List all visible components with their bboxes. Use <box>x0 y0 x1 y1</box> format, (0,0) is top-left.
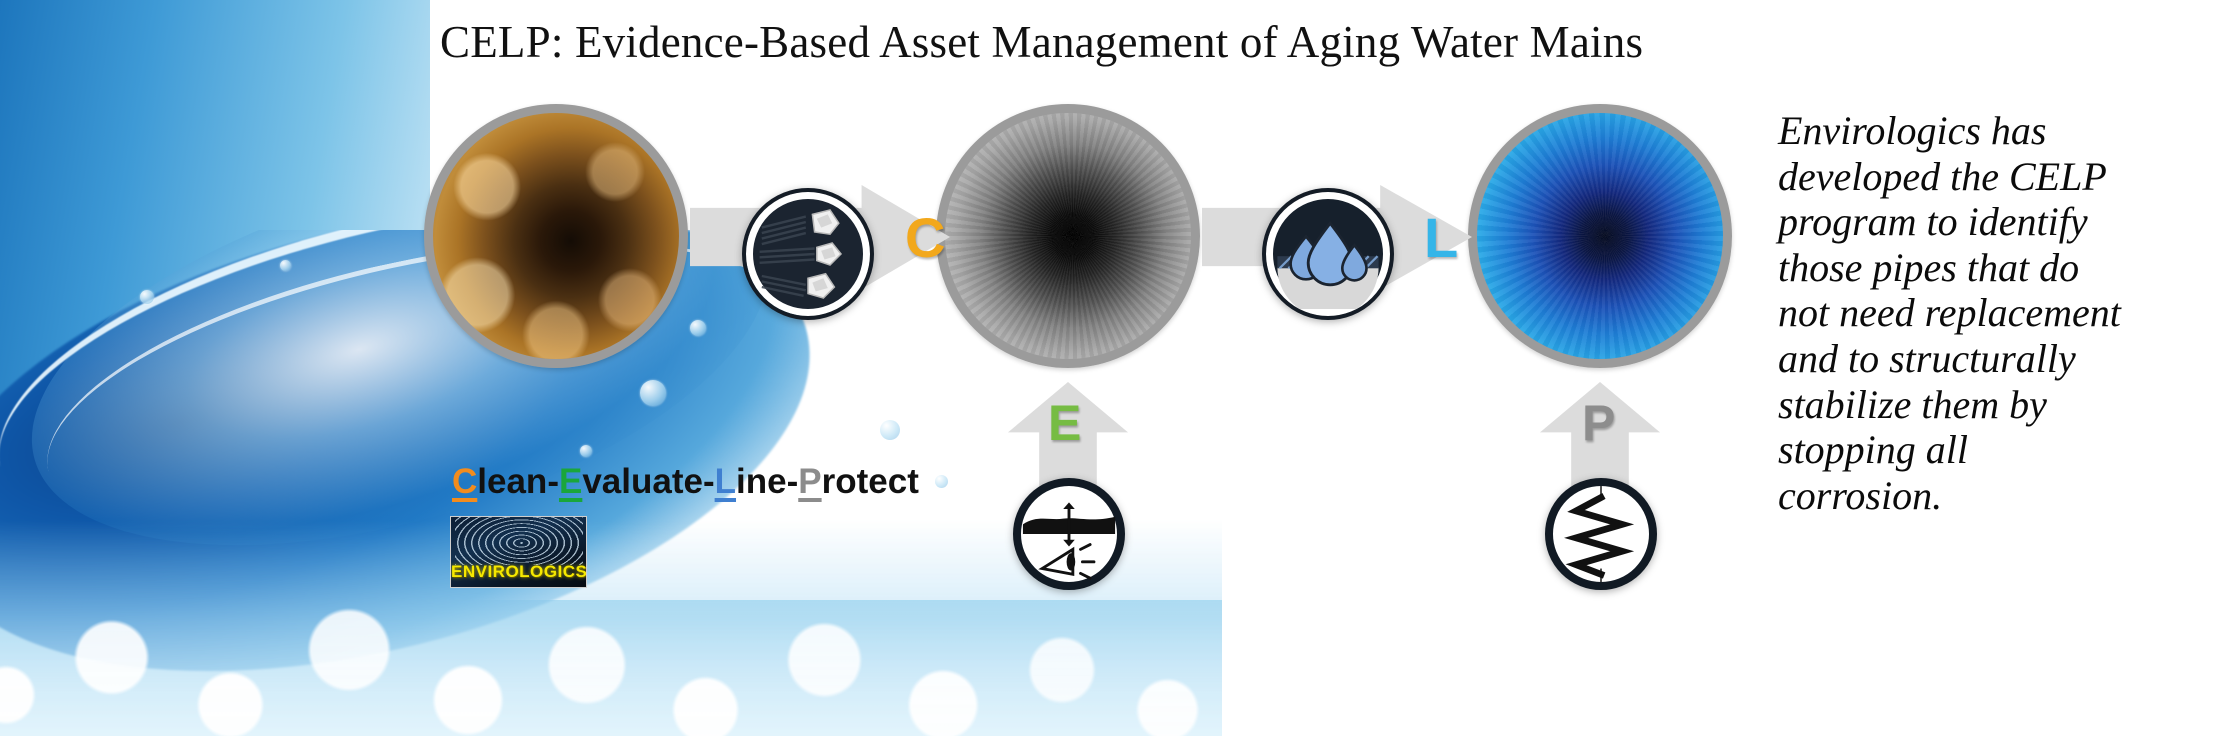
resistor-zigzag-icon <box>1545 478 1657 590</box>
logo-ripple-graphic <box>455 516 583 565</box>
slide-canvas: CELP: Evidence-Based Asset Management of… <box>0 0 2218 736</box>
pipe-state-lined <box>1468 104 1732 368</box>
water-droplet <box>580 445 592 457</box>
wordmark-rest-line: ine <box>736 462 787 501</box>
wordmark-sep-3: - <box>787 462 799 501</box>
water-droplet <box>880 420 900 440</box>
water-droplet <box>935 475 948 488</box>
blurb-line: stopping all <box>1778 427 2198 473</box>
blurb-line: those pipes that do <box>1778 245 2198 291</box>
wordmark-rest-evaluate: valuate <box>582 462 703 501</box>
wordmark-sep-1: - <box>547 462 559 501</box>
blurb-line: not need replacement <box>1778 290 2198 336</box>
blurb-line: Envirologics has <box>1778 108 2198 154</box>
wordmark-initial-p: P <box>798 462 821 501</box>
wordmark-rest-clean: lean <box>477 462 547 501</box>
envirologics-logo: ENVIROLOGICS <box>450 516 587 588</box>
pipe-state-corroded <box>424 104 688 368</box>
page-title: CELP: Evidence-Based Asset Management of… <box>440 16 1643 68</box>
blurb-line: and to structurally <box>1778 336 2198 382</box>
step-letter-e: E <box>1048 394 1081 452</box>
water-droplet <box>690 320 706 336</box>
water-droplet <box>140 290 154 304</box>
celp-wordmark: Clean-Evaluate-Line-Protect <box>452 462 919 502</box>
blurb-line: corrosion. <box>1778 473 2198 519</box>
logo-wordmark: ENVIROLOGICS <box>451 562 586 582</box>
wordmark-initial-e: E <box>559 462 582 501</box>
step-letter-p: P <box>1582 394 1615 452</box>
water-droplet <box>640 380 666 406</box>
abrasive-stones-icon <box>746 192 870 316</box>
blurb-line: program to identify <box>1778 199 2198 245</box>
water-droplet <box>280 260 291 271</box>
step-letter-c: C <box>905 205 945 270</box>
pipe-inspection-icon <box>1013 478 1125 590</box>
blurb-line: stabilize them by <box>1778 382 2198 428</box>
wordmark-rest-protect: rotect <box>822 462 919 501</box>
blurb-line: developed the CELP <box>1778 154 2198 200</box>
wordmark-sep-2: - <box>703 462 715 501</box>
step-letter-l: L <box>1424 205 1458 270</box>
wordmark-initial-c: C <box>452 462 477 501</box>
description-paragraph: Envirologics has developed the CELP prog… <box>1778 108 2198 518</box>
pipe-state-cleaned <box>936 104 1200 368</box>
wordmark-initial-l: L <box>715 462 736 501</box>
water-droplets-icon <box>1266 192 1390 316</box>
